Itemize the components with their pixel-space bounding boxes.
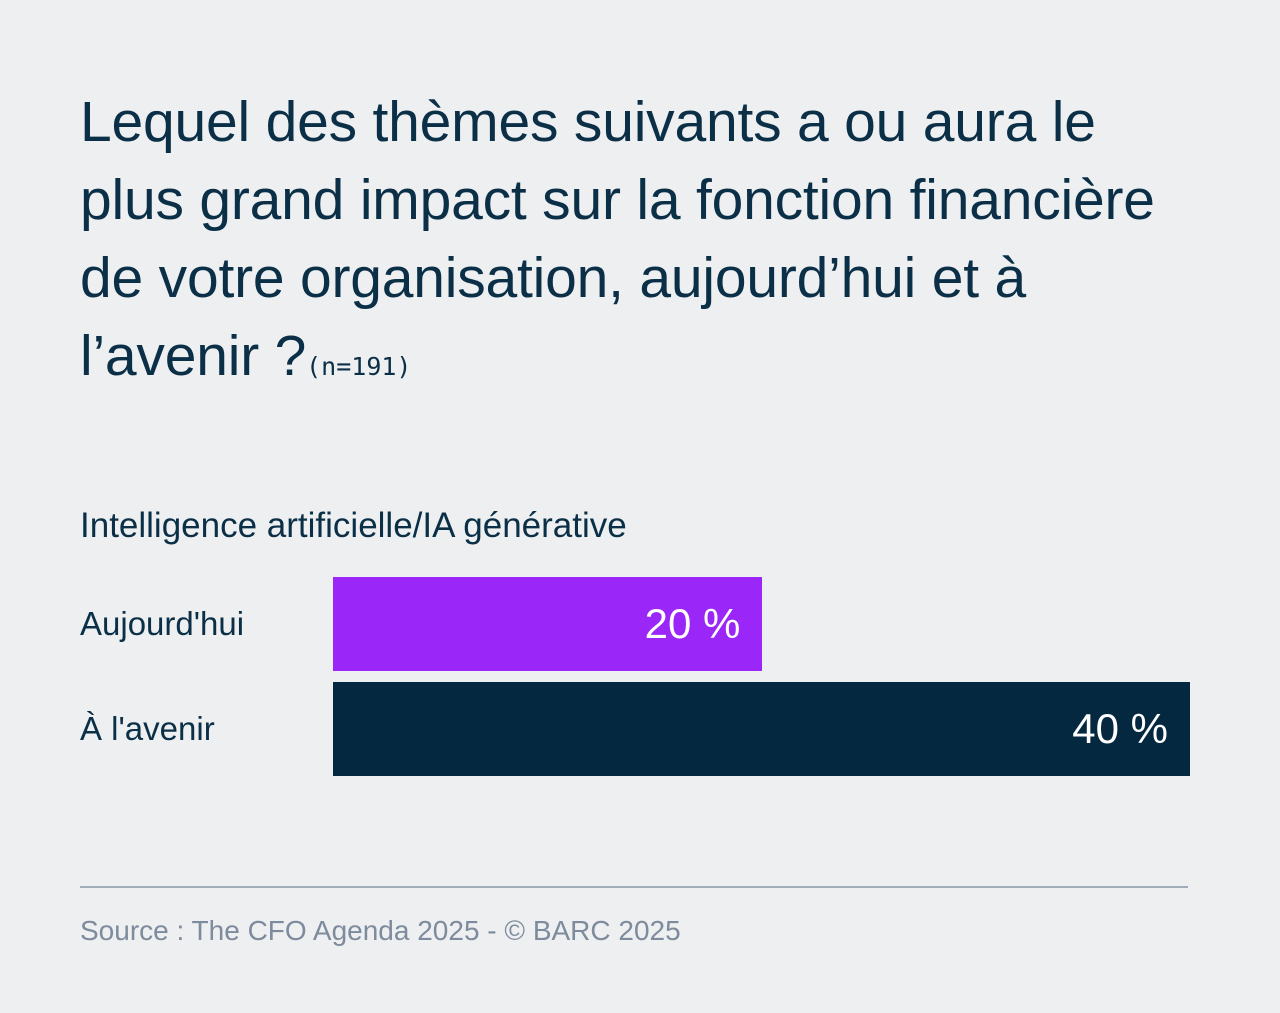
bar-today[interactable]: 20 %: [333, 577, 762, 671]
source-note: Source : The CFO Agenda 2025 - © BARC 20…: [80, 914, 1188, 948]
bar-track-today: 20 %: [333, 577, 1190, 671]
question-text: Lequel des thèmes suivants a ou aura le …: [80, 90, 1155, 388]
chart-page: Lequel des thèmes suivants a ou aura le …: [0, 0, 1280, 1013]
bar-future[interactable]: 40 %: [333, 682, 1190, 776]
title-block: Lequel des thèmes suivants a ou aura le …: [80, 83, 1195, 395]
bar-row: À l'avenir 40 %: [80, 682, 1190, 776]
bar-category-label-today: Aujourd'hui: [80, 577, 333, 671]
bar-category-label-future: À l'avenir: [80, 682, 333, 776]
bar-track-future: 40 %: [333, 682, 1190, 776]
chart-area: Intelligence artificielle/IA générative …: [80, 505, 1190, 776]
sample-size-label: (n=191): [306, 352, 411, 381]
bar-value-today: 20 %: [645, 603, 741, 645]
footer: Source : The CFO Agenda 2025 - © BARC 20…: [80, 886, 1188, 948]
chart-series-title: Intelligence artificielle/IA générative: [80, 505, 1190, 547]
bar-chart: Aujourd'hui 20 % À l'avenir 40 %: [80, 577, 1190, 776]
bar-row: Aujourd'hui 20 %: [80, 577, 1190, 671]
footer-divider: [80, 886, 1188, 888]
page-title: Lequel des thèmes suivants a ou aura le …: [80, 83, 1195, 395]
bar-value-future: 40 %: [1072, 708, 1168, 750]
